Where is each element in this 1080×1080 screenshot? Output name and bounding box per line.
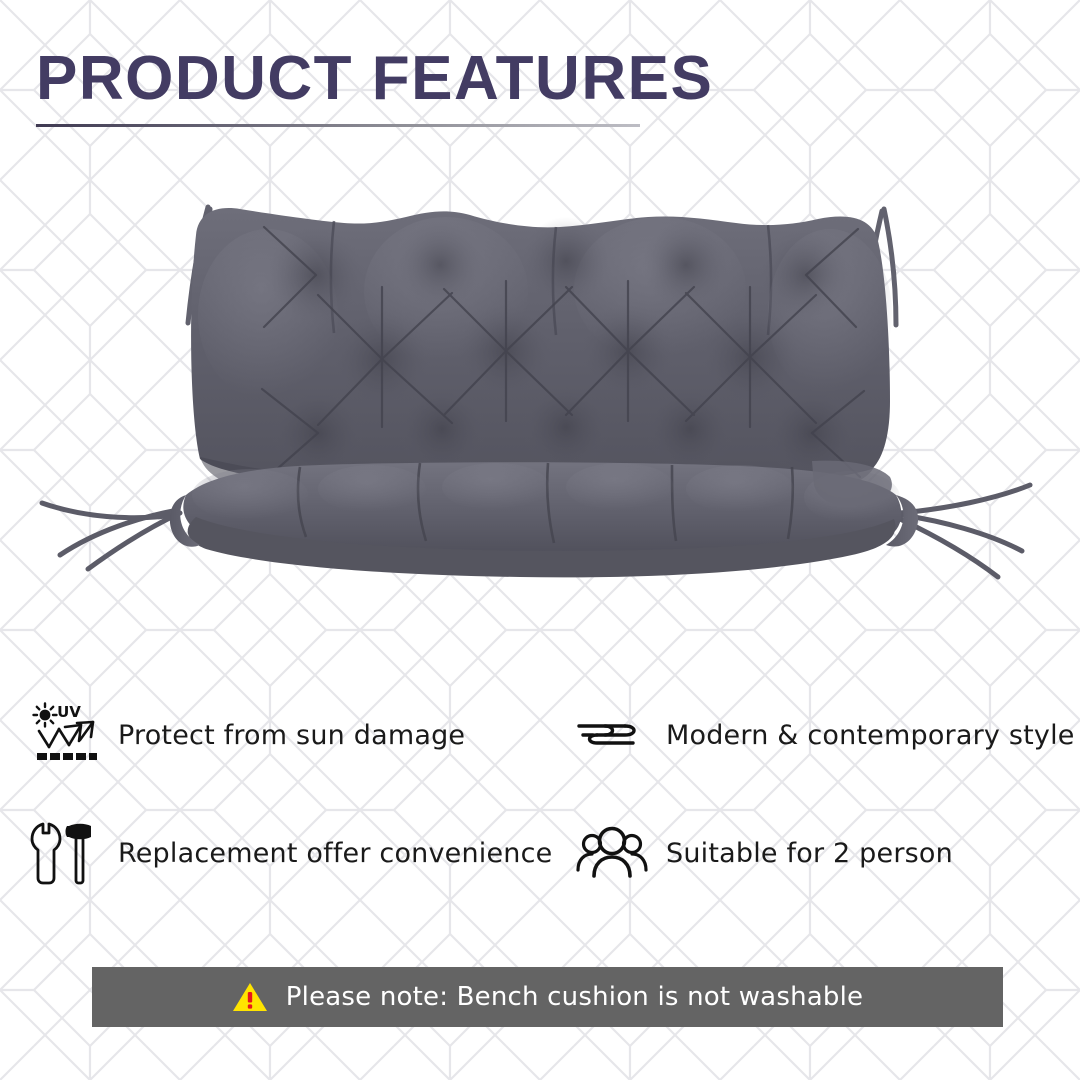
feature-item-modern-style: Modern & contemporary style: [574, 676, 1060, 794]
cushion-seat: [170, 462, 918, 577]
svg-text:UV: UV: [57, 703, 81, 721]
feature-label-seating-capacity: Suitable for 2 person: [666, 838, 953, 869]
cushion-backrest: [191, 208, 892, 504]
note-bar: Please note: Bench cushion is not washab…: [92, 967, 1003, 1027]
uv-protection-icon: UV: [26, 699, 102, 771]
group-of-people-icon: [574, 817, 650, 889]
tie-strap-left: [42, 503, 180, 569]
tools-wrench-hammer-icon: [26, 817, 102, 889]
warning-triangle-icon: [232, 981, 268, 1013]
product-image: [0, 165, 1080, 625]
title-underline: [36, 124, 640, 127]
feature-label-uv-protection: Protect from sun damage: [118, 720, 465, 751]
product-features-infographic: PRODUCT FEATURES: [0, 0, 1080, 1080]
modern-style-icon: [574, 699, 650, 771]
feature-label-modern-style: Modern & contemporary style: [666, 720, 1075, 751]
feature-label-replacement: Replacement offer convenience: [118, 838, 552, 869]
feature-item-replacement: Replacement offer convenience: [26, 794, 574, 912]
page-title: PRODUCT FEATURES: [36, 48, 713, 110]
bench-cushion-illustration: [0, 165, 1080, 625]
feature-item-seating-capacity: Suitable for 2 person: [574, 794, 1060, 912]
note-text: Please note: Bench cushion is not washab…: [286, 982, 863, 1012]
feature-item-uv-protection: UV: [26, 676, 574, 794]
features-grid: UV: [26, 676, 1060, 912]
page-title-block: PRODUCT FEATURES: [36, 48, 713, 127]
tie-strap-right: [900, 485, 1030, 577]
